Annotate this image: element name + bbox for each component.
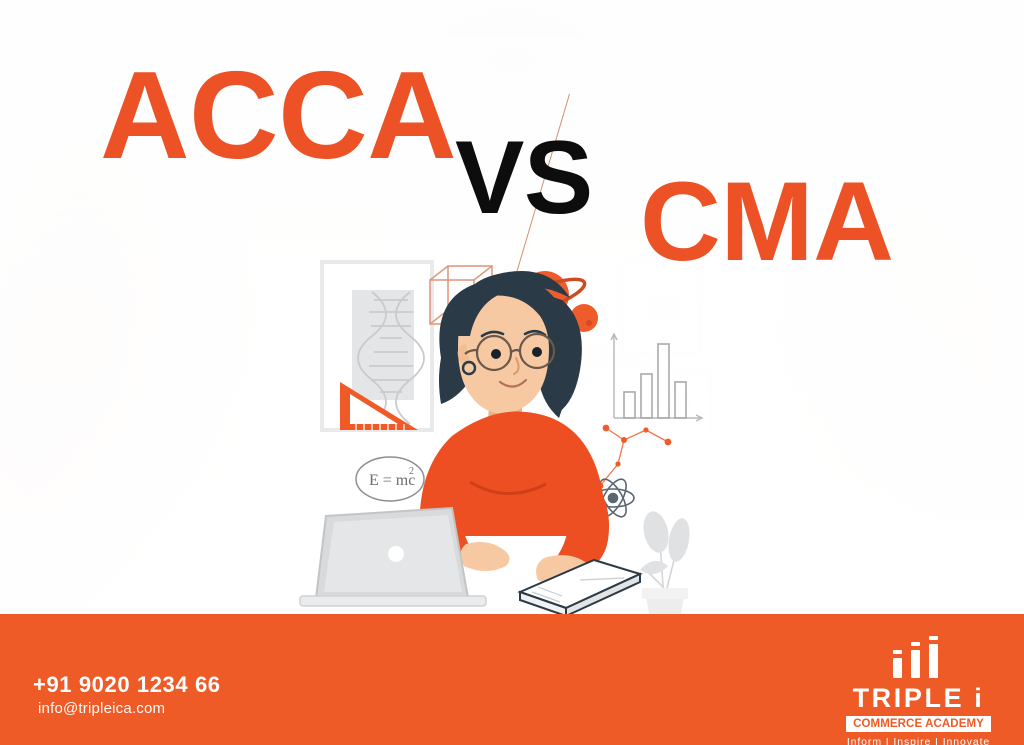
contact-block: +91 9020 1234 66 info@tripleica.com	[33, 672, 221, 717]
svg-text:2: 2	[409, 466, 414, 477]
headline-versus: VS	[455, 126, 593, 230]
potted-plant-icon	[640, 509, 693, 620]
contact-email[interactable]: info@tripleica.com	[38, 700, 221, 717]
logo-bars-icon	[883, 636, 955, 678]
headline-block: ACCA VS CMA	[0, 38, 1024, 258]
logo-subtitle: COMMERCE ACADEMY	[846, 716, 991, 732]
headline-term-left: ACCA	[100, 54, 456, 178]
bar-chart-icon	[611, 334, 702, 421]
equation-note: E = mc 2	[356, 457, 424, 501]
footer-bar: +91 9020 1234 66 info@tripleica.com TRIP…	[0, 618, 1024, 745]
brand-logo: TRIPLE i COMMERCE ACADEMY Inform I Inspi…	[831, 636, 1006, 745]
illustration-scene: E = mc 2	[0, 240, 1024, 620]
logo-tagline: Inform I Inspire I Innovate	[831, 736, 1006, 745]
poster-canvas: ACCA VS CMA	[0, 0, 1024, 745]
contact-phone[interactable]: +91 9020 1234 66	[33, 672, 221, 697]
logo-name: TRIPLE i	[831, 685, 1006, 712]
